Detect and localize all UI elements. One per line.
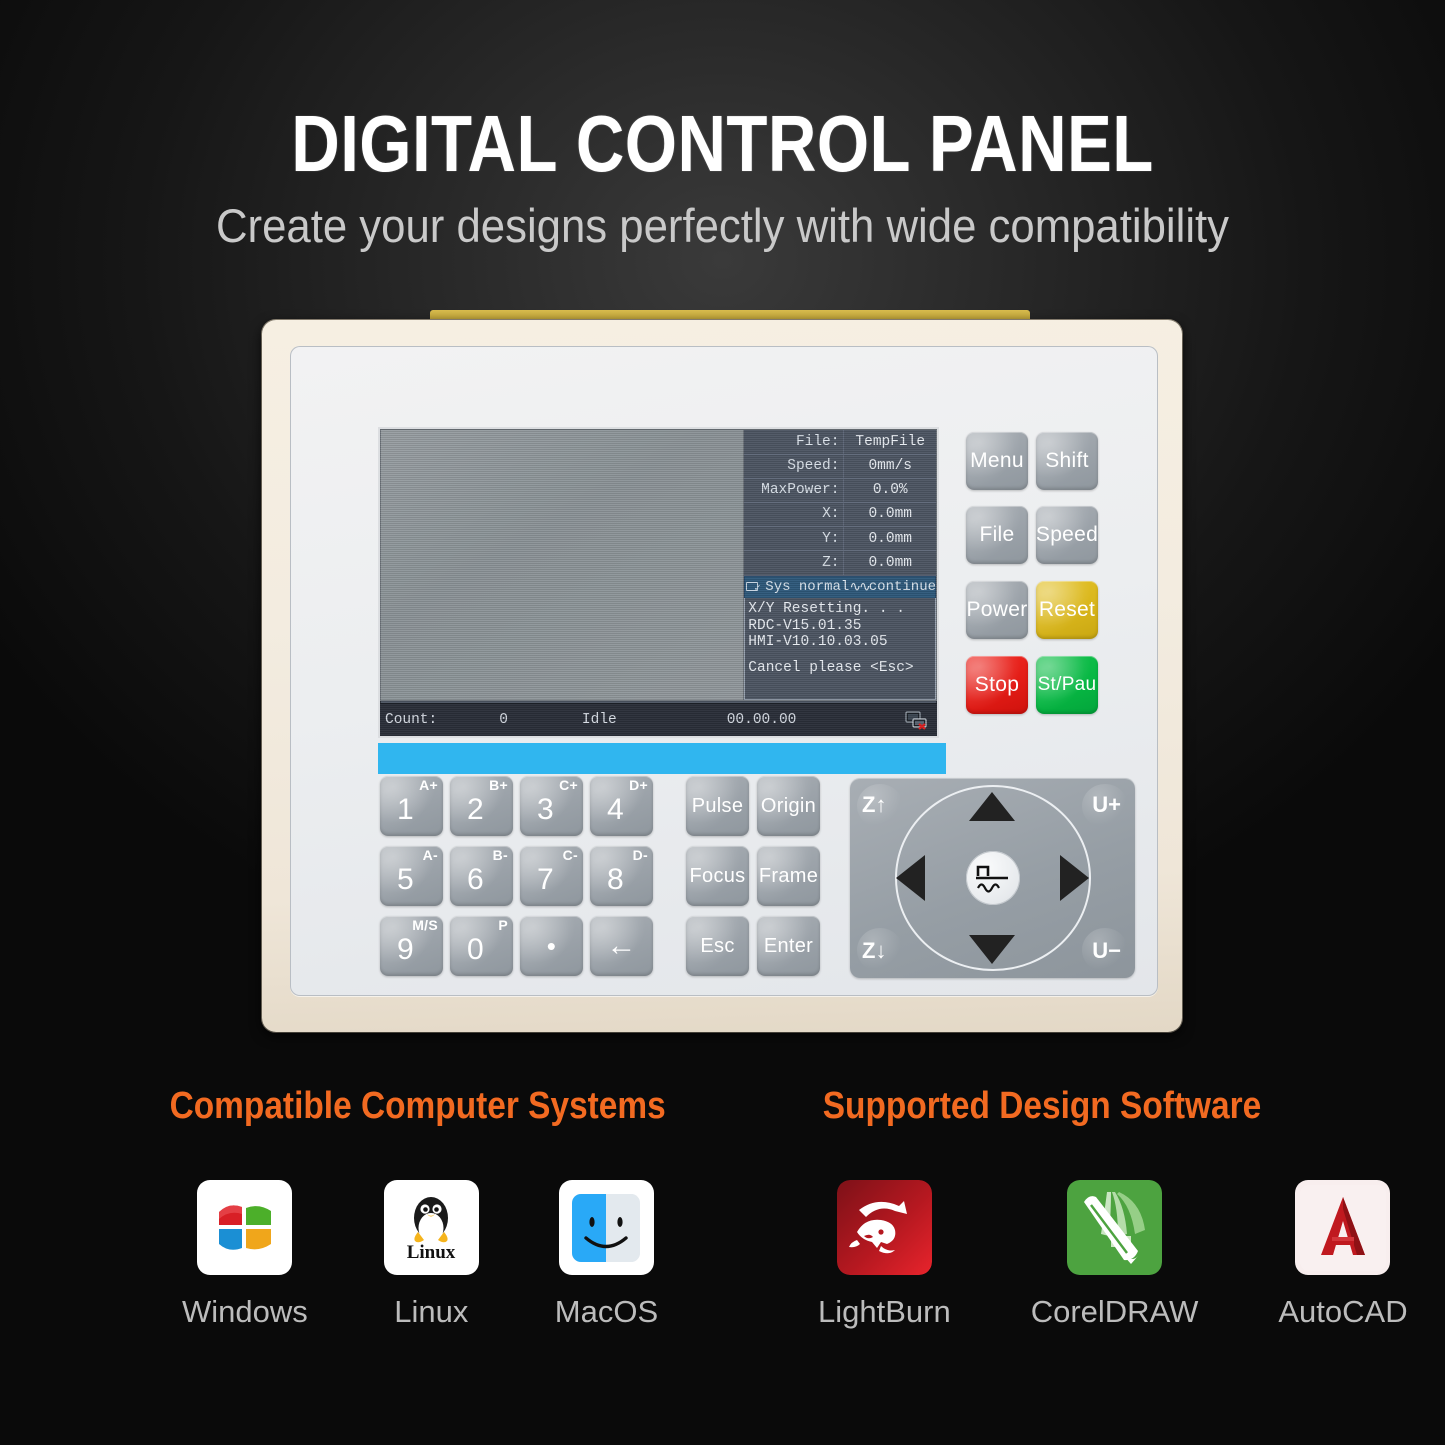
- key-esc[interactable]: Esc: [686, 916, 749, 976]
- table-row: File: TempFile: [744, 430, 936, 454]
- key-label: Enter: [764, 935, 813, 958]
- key-stop[interactable]: Stop: [966, 656, 1028, 714]
- key-focus[interactable]: Focus: [686, 846, 749, 906]
- key-label: Z↓: [862, 938, 886, 964]
- compatible-systems-icon-row: Windows Linux Linux: [182, 1180, 658, 1330]
- key-digit: 2: [467, 793, 484, 827]
- info-value: 0.0mm: [844, 551, 936, 575]
- key-start-pause[interactable]: St/Pau: [1036, 656, 1098, 714]
- key-digit: 9: [397, 933, 414, 967]
- key-superscript: A-: [423, 848, 438, 862]
- design-software-icon-row: LightBurn CorelDRAW: [818, 1180, 1408, 1330]
- coreldraw-logo-tile: [1067, 1180, 1162, 1275]
- message-footer: Cancel please <Esc>: [748, 660, 933, 677]
- key-label: File: [979, 523, 1014, 547]
- spacer: [748, 651, 933, 660]
- lcd-info-pane: File: TempFile Speed: 0mm/s MaxPower: 0.…: [743, 429, 937, 701]
- key-label: Reset: [1039, 598, 1095, 622]
- key-num-7[interactable]: 7C-: [520, 846, 583, 906]
- key-menu[interactable]: Menu: [966, 432, 1028, 490]
- key-num-2[interactable]: 2B+: [450, 776, 513, 836]
- lcd-display: File: TempFile Speed: 0mm/s MaxPower: 0.…: [380, 429, 937, 736]
- icon-label: Linux: [394, 1294, 468, 1330]
- icon-label: MacOS: [555, 1294, 658, 1330]
- key-digit: 4: [607, 793, 624, 827]
- info-label: Z:: [744, 551, 844, 575]
- elapsed-time: 00.00.00: [727, 712, 797, 728]
- table-row: X: 0.0mm: [744, 503, 936, 527]
- section-heading-design-software: Supported Design Software: [796, 1085, 1289, 1128]
- key-speed[interactable]: Speed: [1036, 506, 1098, 564]
- network-disconnected-icon: [905, 710, 929, 730]
- up-arrow-icon[interactable]: [969, 792, 1015, 821]
- key-label: Focus: [690, 865, 746, 888]
- key-shift[interactable]: Shift: [1036, 432, 1098, 490]
- device-front-panel: File: TempFile Speed: 0mm/s MaxPower: 0.…: [290, 346, 1158, 996]
- pulse-waveform-icon: [974, 861, 1012, 895]
- message-line: HMI-V10.10.03.05: [748, 634, 933, 651]
- key-superscript: C+: [559, 778, 578, 792]
- key-z-down[interactable]: Z↓: [862, 938, 886, 964]
- lcd-main-area: File: TempFile Speed: 0mm/s MaxPower: 0.…: [380, 429, 937, 701]
- icon-label: Windows: [182, 1294, 308, 1330]
- info-label: X:: [744, 503, 844, 527]
- info-value: TempFile: [844, 430, 936, 454]
- lcd-status-bar: Count: 0 Idle 00.00.00: [380, 703, 937, 736]
- autocad-logo-tile: [1295, 1180, 1390, 1275]
- key-superscript: D+: [629, 778, 648, 792]
- key-num-9[interactable]: 9M/S: [380, 916, 443, 976]
- key-label: Menu: [970, 449, 1024, 473]
- gold-trim-strip: [430, 310, 1030, 324]
- key-digit: 5: [397, 863, 414, 897]
- info-label: MaxPower:: [744, 478, 844, 502]
- lightburn-dragon-logo-icon: [837, 1180, 932, 1275]
- key-num-0[interactable]: 0P: [450, 916, 513, 976]
- info-label: File:: [744, 430, 844, 454]
- macos-finder-logo-icon: [566, 1188, 646, 1268]
- key-reset[interactable]: Reset: [1036, 581, 1098, 639]
- key-superscript: B+: [489, 778, 508, 792]
- key-digit: •: [547, 931, 556, 962]
- key-z-up[interactable]: Z↑: [862, 792, 886, 818]
- info-label: Speed:: [744, 454, 844, 478]
- table-row: Z: 0.0mm: [744, 551, 936, 575]
- key-num-1[interactable]: 1A+: [380, 776, 443, 836]
- windows-logo-icon: [209, 1192, 281, 1264]
- direction-pad: Z↑ U+ Z↓ U−: [850, 778, 1135, 978]
- linux-logo-tile: Linux: [384, 1180, 479, 1275]
- key-label: Power: [966, 598, 1027, 622]
- key-label: Esc: [700, 935, 734, 958]
- linux-tux-logo-icon: Linux: [394, 1190, 468, 1266]
- message-line: RDC-V15.01.35: [748, 618, 933, 635]
- key-superscript: B-: [493, 848, 508, 862]
- key-digit: ←: [606, 929, 636, 963]
- key-pulse[interactable]: Pulse: [686, 776, 749, 836]
- lcd-info-table: File: TempFile Speed: 0mm/s MaxPower: 0.…: [744, 430, 936, 576]
- monitor-check-icon: [746, 581, 763, 594]
- key-frame[interactable]: Frame: [757, 846, 820, 906]
- waveform-glyph: ∿∿: [849, 579, 868, 596]
- key-superscript: A+: [419, 778, 438, 792]
- page-subtitle: Create your designs perfectly with wide …: [51, 202, 1395, 249]
- key-label: Shift: [1045, 449, 1089, 473]
- key-digit: 8: [607, 863, 624, 897]
- key-decimal-point[interactable]: •: [520, 916, 583, 976]
- key-superscript: P: [498, 918, 508, 932]
- accent-strip: [378, 743, 946, 774]
- list-item-windows: Windows: [182, 1180, 308, 1330]
- right-arrow-icon[interactable]: [1060, 855, 1089, 901]
- key-num-8[interactable]: 8D-: [590, 846, 653, 906]
- icon-label: LightBurn: [818, 1294, 951, 1330]
- key-num-3[interactable]: 3C+: [520, 776, 583, 836]
- lcd-system-status-bar: Sys normal ∿∿ continue: [744, 576, 936, 599]
- list-item-coreldraw: CorelDRAW: [1031, 1180, 1199, 1330]
- key-label: U+: [1092, 792, 1121, 818]
- message-line: X/Y Resetting. . .: [748, 601, 933, 618]
- count-label: Count:: [385, 712, 437, 728]
- key-digit: 0: [467, 933, 484, 967]
- info-value: 0mm/s: [844, 454, 936, 478]
- key-superscript: M/S: [412, 918, 438, 932]
- icon-label: CorelDRAW: [1031, 1294, 1199, 1330]
- sys-continue-text: continue: [869, 579, 936, 595]
- key-digit: 1: [397, 793, 414, 827]
- key-digit: 7: [537, 863, 554, 897]
- key-digit: 6: [467, 863, 484, 897]
- section-heading-compatible-systems: Compatible Computer Systems: [170, 1085, 663, 1128]
- key-power[interactable]: Power: [966, 581, 1028, 639]
- list-item-lightburn: LightBurn: [818, 1180, 951, 1330]
- key-u-minus[interactable]: U−: [1092, 938, 1121, 964]
- key-origin[interactable]: Origin: [757, 776, 820, 836]
- key-backspace[interactable]: ←: [590, 916, 653, 976]
- key-num-4[interactable]: 4D+: [590, 776, 653, 836]
- down-arrow-icon[interactable]: [969, 935, 1015, 964]
- key-superscript: D-: [633, 848, 648, 862]
- info-value: 0.0mm: [844, 527, 936, 551]
- key-label: Speed: [1036, 523, 1098, 547]
- key-u-plus[interactable]: U+: [1092, 792, 1121, 818]
- key-label: Stop: [975, 673, 1019, 697]
- page-title: DIGITAL CONTROL PANEL: [116, 104, 1330, 184]
- key-label: U−: [1092, 938, 1121, 964]
- key-num-5[interactable]: 5A-: [380, 846, 443, 906]
- windows-logo-tile: [197, 1180, 292, 1275]
- sys-status-text: Sys normal: [765, 579, 849, 595]
- table-row: Speed: 0mm/s: [744, 454, 936, 478]
- lightburn-logo-tile: [837, 1180, 932, 1275]
- key-pulse-center[interactable]: [966, 851, 1020, 905]
- coreldraw-balloon-logo-icon: [1067, 1180, 1162, 1275]
- key-digit: 3: [537, 793, 554, 827]
- info-value: 0.0%: [844, 478, 936, 502]
- key-label: Pulse: [692, 795, 744, 818]
- list-item-linux: Linux Linux: [384, 1180, 479, 1330]
- autocad-a-logo-icon: [1300, 1185, 1386, 1271]
- macos-logo-tile: [559, 1180, 654, 1275]
- count-value: 0: [499, 712, 508, 728]
- key-label: Origin: [761, 795, 816, 818]
- machine-state: Idle: [582, 712, 617, 728]
- key-file[interactable]: File: [966, 506, 1028, 564]
- list-item-macos: MacOS: [555, 1180, 658, 1330]
- svg-text:Linux: Linux: [407, 1242, 456, 1263]
- table-row: MaxPower: 0.0%: [744, 478, 936, 502]
- icon-label: AutoCAD: [1278, 1294, 1407, 1330]
- info-label: Y:: [744, 527, 844, 551]
- info-value: 0.0mm: [844, 503, 936, 527]
- lcd-message-box: X/Y Resetting. . . RDC-V15.01.35 HMI-V10…: [744, 598, 936, 700]
- key-superscript: C-: [563, 848, 578, 862]
- control-panel-device: File: TempFile Speed: 0mm/s MaxPower: 0.…: [262, 320, 1182, 1032]
- table-row: Y: 0.0mm: [744, 527, 936, 551]
- left-arrow-icon[interactable]: [896, 855, 925, 901]
- key-label: Z↑: [862, 792, 886, 818]
- key-label: St/Pau: [1038, 674, 1097, 696]
- lcd-preview-canvas: [380, 429, 743, 701]
- key-enter[interactable]: Enter: [757, 916, 820, 976]
- key-num-6[interactable]: 6B-: [450, 846, 513, 906]
- key-label: Frame: [759, 865, 818, 888]
- list-item-autocad: AutoCAD: [1278, 1180, 1407, 1330]
- hero-section: DIGITAL CONTROL PANEL Create your design…: [0, 0, 1445, 249]
